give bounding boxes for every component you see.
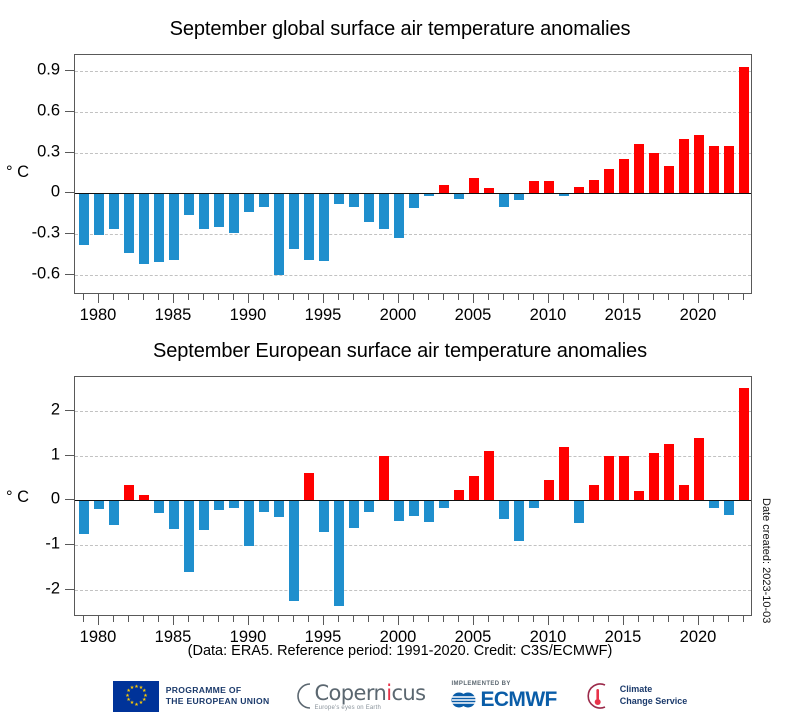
bar-1995 [319, 500, 329, 531]
bar-2010 [544, 181, 554, 193]
x-tick [293, 616, 294, 622]
bar-1980 [94, 500, 104, 509]
bar-2021 [709, 500, 719, 508]
x-tick [698, 294, 699, 303]
copernicus-wordmark-block: Copernicus Europe's eyes on Earth [314, 681, 425, 711]
bar-2007 [499, 193, 509, 207]
bar-1980 [94, 193, 104, 235]
bar-2006 [484, 451, 494, 500]
ecmwf-implemented-by: IMPLEMENTED BY [451, 681, 556, 687]
x-tick [143, 294, 144, 300]
x-tick [158, 294, 159, 300]
bar-1985 [169, 193, 179, 259]
x-tick [578, 616, 579, 622]
x-tick-label: 2015 [605, 306, 642, 325]
bar-1992 [274, 500, 284, 517]
bar-1991 [259, 500, 269, 512]
bar-2019 [679, 485, 689, 501]
x-tick [518, 294, 519, 300]
eu-logo-text: PROGRAMME OF THE EUROPEAN UNION [166, 685, 270, 706]
x-tick [728, 616, 729, 622]
bar-1990 [244, 193, 254, 212]
chart-panel-european: September European surface air temperatu… [0, 340, 800, 640]
bar-1988 [214, 500, 224, 510]
bar-2003 [439, 185, 449, 193]
bar-2020 [694, 135, 704, 193]
bar-1997 [349, 193, 359, 207]
x-tick [503, 294, 504, 300]
source-note: (Data: ERA5. Reference period: 1991-2020… [0, 643, 800, 659]
bar-1993 [289, 193, 299, 249]
date-created-label: Date created: 2023-10-03 [760, 498, 772, 623]
x-tick [473, 294, 474, 303]
y-tick-label: -0.3 [32, 223, 60, 242]
gridline [75, 411, 751, 412]
y-tick-label: 0 [51, 490, 60, 509]
x-tick [128, 294, 129, 300]
x-tick [578, 294, 579, 300]
bar-1984 [154, 500, 164, 513]
bar-1993 [289, 500, 299, 601]
bar-1997 [349, 500, 359, 528]
bar-2000 [394, 193, 404, 238]
bar-2008 [514, 193, 524, 200]
bar-2017 [649, 453, 659, 500]
x-tick [338, 294, 339, 300]
x-tick [488, 294, 489, 300]
bar-1982 [124, 485, 134, 501]
x-tick [308, 616, 309, 622]
x-tick [638, 294, 639, 300]
c3s-thermometer-icon [583, 681, 613, 711]
x-tick [353, 616, 354, 622]
x-tick [218, 294, 219, 300]
gridline [75, 545, 751, 546]
eu-logo-line1: PROGRAMME OF [166, 685, 270, 696]
bar-1999 [379, 456, 389, 501]
x-tick [638, 616, 639, 622]
copernicus-arc-icon [295, 681, 312, 711]
gridline [75, 275, 751, 276]
eu-flag-icon: ★★★★★★★★★★★★ [113, 681, 159, 712]
bar-2003 [439, 500, 449, 508]
bar-1996 [334, 500, 344, 605]
bar-2014 [604, 169, 614, 193]
x-tick [248, 294, 249, 303]
bar-1986 [184, 193, 194, 215]
bar-2023 [739, 388, 749, 500]
x-tick [128, 616, 129, 622]
bar-2018 [664, 166, 674, 193]
chart-title-european: September European surface air temperatu… [0, 340, 800, 363]
bar-1987 [199, 193, 209, 228]
y-tick [65, 274, 74, 275]
bar-1981 [109, 193, 119, 228]
bar-1979 [79, 193, 89, 245]
x-tick [143, 616, 144, 622]
bar-2009 [529, 500, 539, 507]
copernicus-name: Copernicus [314, 681, 425, 705]
x-tick [308, 294, 309, 300]
x-tick-label: 2010 [530, 306, 567, 325]
x-tick [653, 294, 654, 300]
bar-2011 [559, 447, 569, 501]
c3s-logo: Climate Change Service [583, 681, 688, 711]
x-tick [473, 616, 474, 625]
bar-2000 [394, 500, 404, 520]
eu-star-icon: ★ [134, 704, 137, 707]
bar-1994 [304, 473, 314, 501]
bar-1999 [379, 193, 389, 228]
ecmwf-waves-icon [451, 690, 477, 710]
bar-1996 [334, 193, 344, 204]
y-tick-label: 0.6 [37, 101, 60, 120]
bar-2019 [679, 139, 689, 193]
x-tick [533, 616, 534, 622]
x-tick [98, 294, 99, 303]
y-tick [65, 152, 74, 153]
bar-2015 [619, 159, 629, 193]
y-tick [65, 70, 74, 71]
y-tick [65, 455, 74, 456]
x-tick [248, 616, 249, 625]
x-tick [563, 294, 564, 300]
x-tick [98, 616, 99, 625]
eu-star-icon: ★ [139, 702, 142, 705]
bar-2018 [664, 444, 674, 500]
y-tick-label: 2 [51, 400, 60, 419]
ecmwf-block: IMPLEMENTED BY ECMWF [451, 681, 556, 712]
bar-1979 [79, 500, 89, 534]
x-tick [458, 294, 459, 300]
bar-2005 [469, 476, 479, 501]
c3s-line1: Climate [620, 684, 688, 696]
bar-1989 [229, 500, 239, 508]
c3s-line2: Change Service [620, 696, 688, 708]
eu-star-icon: ★ [134, 686, 137, 689]
bar-2013 [589, 180, 599, 194]
y-tick-label: 0.9 [37, 61, 60, 80]
y-tick [65, 499, 74, 500]
y-tick [65, 589, 74, 590]
bar-2010 [544, 480, 554, 500]
x-tick [278, 616, 279, 622]
x-tick [623, 294, 624, 303]
climate-anomaly-figure: September global surface air temperature… [0, 0, 800, 724]
y-tick-label: 1 [51, 445, 60, 464]
y-tick-label: 0.3 [37, 142, 60, 161]
x-tick [383, 294, 384, 300]
y-tick-label: -2 [45, 580, 60, 599]
x-tick-label: 2005 [455, 306, 492, 325]
x-tick [683, 616, 684, 622]
ecmwf-wordmark: ECMWF [480, 688, 556, 712]
x-tick [368, 294, 369, 300]
x-tick [293, 294, 294, 300]
x-tick [713, 294, 714, 300]
x-tick [218, 616, 219, 622]
bar-2008 [514, 500, 524, 540]
bar-2022 [724, 500, 734, 514]
x-tick [398, 616, 399, 625]
x-tick [113, 294, 114, 300]
x-tick [113, 616, 114, 622]
x-tick [353, 294, 354, 300]
x-tick [623, 616, 624, 625]
copernicus-wordmark: Copernicus [314, 681, 425, 705]
x-tick [503, 616, 504, 622]
plot-area-european [74, 376, 752, 616]
bar-2012 [574, 187, 584, 194]
x-tick [533, 294, 534, 300]
x-tick [608, 616, 609, 622]
bar-1992 [274, 193, 284, 274]
bar-1987 [199, 500, 209, 530]
x-tick-label: 1990 [230, 306, 267, 325]
x-tick [488, 616, 489, 622]
y-axis-unit-global: ° C [6, 163, 29, 182]
x-tick [608, 294, 609, 300]
copernicus-logo: Copernicus Europe's eyes on Earth [295, 681, 425, 711]
plot-area-global [74, 54, 752, 294]
chart-panel-global: September global surface air temperature… [0, 18, 800, 318]
x-tick [518, 616, 519, 622]
x-tick [593, 616, 594, 622]
x-tick-label: 2000 [380, 306, 417, 325]
bar-2004 [454, 490, 464, 500]
x-tick [83, 616, 84, 622]
gridline [75, 71, 751, 72]
x-tick [548, 294, 549, 303]
eu-star-icon: ★ [126, 690, 129, 693]
x-tick [653, 616, 654, 622]
gridline [75, 112, 751, 113]
bar-2016 [634, 491, 644, 500]
ecmwf-logo: IMPLEMENTED BY ECMWF [451, 681, 556, 712]
eu-logo: ★★★★★★★★★★★★ PROGRAMME OF THE EUROPEAN U… [113, 681, 270, 712]
copernicus-mark: Copernicus Europe's eyes on Earth [295, 681, 425, 711]
bar-2002 [424, 500, 434, 522]
x-tick [728, 294, 729, 300]
x-tick [263, 616, 264, 622]
x-tick-label: 1985 [155, 306, 192, 325]
x-tick-label: 1980 [80, 306, 117, 325]
x-tick [323, 294, 324, 303]
chart-title-global: September global surface air temperature… [0, 18, 800, 41]
bar-2021 [709, 146, 719, 193]
x-tick [668, 616, 669, 622]
bar-1983 [139, 193, 149, 264]
x-tick [203, 294, 204, 300]
x-tick [233, 294, 234, 300]
x-tick [443, 616, 444, 622]
eu-star-icon: ★ [126, 699, 129, 702]
x-tick [413, 294, 414, 300]
x-tick [383, 616, 384, 622]
x-tick [593, 294, 594, 300]
bar-2009 [529, 181, 539, 193]
x-tick [443, 294, 444, 300]
bar-1985 [169, 500, 179, 528]
eu-logo-line2: THE EUROPEAN UNION [166, 696, 270, 707]
bar-1994 [304, 193, 314, 259]
bar-1991 [259, 193, 269, 207]
bar-2001 [409, 193, 419, 208]
bar-1988 [214, 193, 224, 227]
zero-line [75, 500, 751, 501]
y-tick [65, 192, 74, 193]
bar-1986 [184, 500, 194, 572]
x-tick [203, 616, 204, 622]
c3s-logo-text: Climate Change Service [620, 684, 688, 707]
bar-2001 [409, 500, 419, 516]
x-tick [188, 294, 189, 300]
x-tick [413, 616, 414, 622]
bar-2017 [649, 153, 659, 194]
x-tick [173, 294, 174, 303]
x-tick [188, 616, 189, 622]
x-tick [428, 294, 429, 300]
x-tick-label: 1995 [305, 306, 342, 325]
y-tick-label: -1 [45, 535, 60, 554]
gridline [75, 590, 751, 591]
x-tick [743, 294, 744, 300]
x-tick [743, 616, 744, 622]
x-tick [458, 616, 459, 622]
x-tick [278, 294, 279, 300]
x-tick [368, 616, 369, 622]
y-tick-label: -0.6 [32, 264, 60, 283]
x-tick [668, 294, 669, 300]
bar-1998 [364, 500, 374, 512]
y-tick [65, 410, 74, 411]
x-tick [563, 616, 564, 622]
y-tick [65, 111, 74, 112]
eu-star-icon: ★ [125, 695, 128, 698]
eu-star-icon: ★ [130, 687, 133, 690]
x-tick-label: 2020 [680, 306, 717, 325]
y-tick-label: 0 [51, 183, 60, 202]
zero-line [75, 193, 751, 194]
bar-2007 [499, 500, 509, 519]
x-tick [683, 294, 684, 300]
x-tick [173, 616, 174, 625]
bar-2022 [724, 146, 734, 193]
x-tick [398, 294, 399, 303]
x-tick [158, 616, 159, 622]
bar-1982 [124, 193, 134, 253]
bar-1984 [154, 193, 164, 262]
bar-2014 [604, 456, 614, 500]
ecmwf-mark: ECMWF [451, 688, 556, 712]
x-tick [233, 616, 234, 622]
bar-1995 [319, 193, 329, 261]
x-tick [338, 616, 339, 622]
bar-2023 [739, 67, 749, 193]
logo-strip: ★★★★★★★★★★★★ PROGRAMME OF THE EUROPEAN U… [0, 676, 800, 716]
bar-2020 [694, 438, 704, 501]
x-tick [263, 294, 264, 300]
bar-2016 [634, 144, 644, 193]
bar-2012 [574, 500, 584, 522]
bar-1990 [244, 500, 254, 546]
bar-1981 [109, 500, 119, 525]
x-tick [83, 294, 84, 300]
copernicus-tagline: Europe's eyes on Earth [314, 705, 425, 711]
y-axis-unit-european: ° C [6, 488, 29, 507]
x-tick [713, 616, 714, 622]
x-tick [548, 616, 549, 625]
bar-2015 [619, 456, 629, 501]
x-tick [323, 616, 324, 625]
y-tick [65, 233, 74, 234]
bar-1989 [229, 193, 239, 232]
bar-2005 [469, 178, 479, 193]
bar-2013 [589, 485, 599, 501]
x-tick [698, 616, 699, 625]
x-tick [428, 616, 429, 622]
y-tick [65, 544, 74, 545]
bar-1998 [364, 193, 374, 221]
